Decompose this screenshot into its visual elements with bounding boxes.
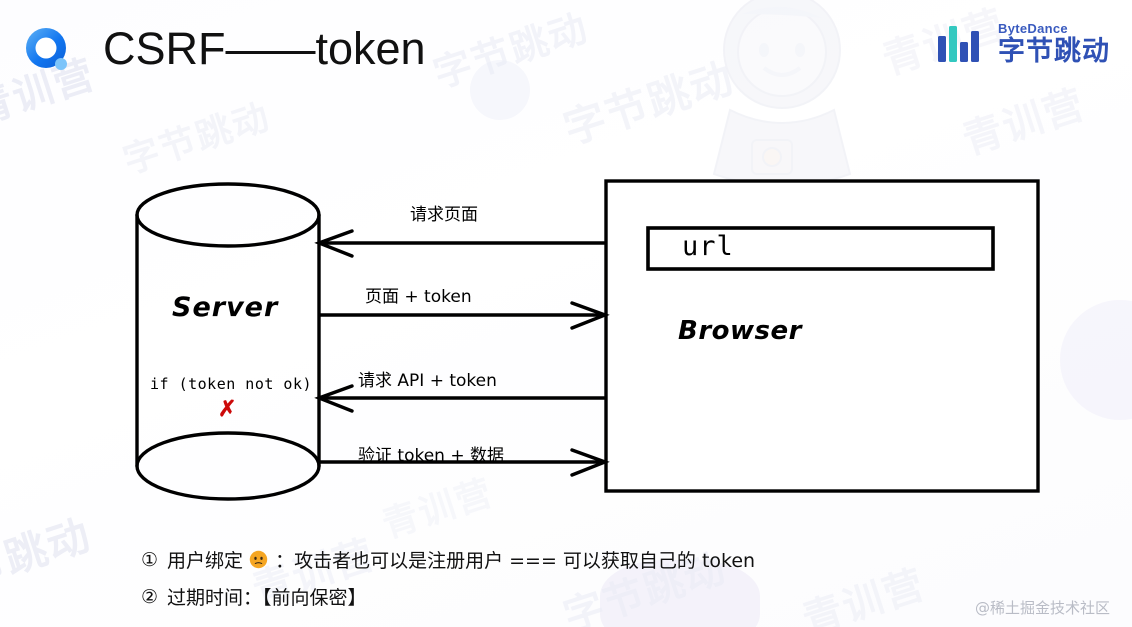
slide-canvas: 青训营 字节跳动 字节跳动 青训营 节跳动 青训营 字节跳动 青训营 青训营 字… (0, 0, 1132, 627)
note-text-after: ：攻击者也可以是注册用户 === 可以获取自己的 token (275, 546, 755, 573)
watermark-credit: @稀土掘金技术社区 (975, 597, 1110, 618)
reject-cross-icon: ✗ (218, 396, 236, 422)
note-number: ① (141, 549, 158, 571)
watermark-text: 字节跳动 (116, 88, 277, 184)
note-item: ① 用户绑定 ：攻击者也可以是注册用户 === 可以获取自己的 token (141, 546, 755, 573)
note-text-before: 过期时间：【前向保密】 (167, 583, 367, 610)
watermark-text: 青训营 (954, 72, 1092, 166)
arrow-label-request-page: 请求页面 (410, 200, 478, 225)
arrow-label-request-api-token: 请求 API + token (358, 366, 497, 391)
note-number: ② (141, 586, 158, 608)
server-cylinder-top (137, 184, 319, 246)
arrow-label-verify-token-data: 验证 token + 数据 (358, 441, 504, 466)
brand-name-en: ByteDance (998, 22, 1110, 35)
server-condition-text: if (token not ok) (150, 375, 312, 393)
watermark-text: 青训营 (794, 552, 932, 627)
arrow-label-page-token: 页面 + token (365, 282, 472, 307)
qiniu-circle-logo-icon (22, 24, 74, 76)
thinking-face-emoji (249, 550, 268, 569)
background-blob (1060, 300, 1132, 420)
server-label: Server (172, 292, 278, 323)
url-bar-value: url (682, 231, 734, 262)
bytedance-logo: ByteDance 字节跳动 (937, 22, 1110, 65)
note-item: ② 过期时间：【前向保密】 (141, 583, 755, 610)
watermark-text: 节跳动 (0, 501, 98, 600)
page-title: CSRF——token (103, 18, 426, 80)
browser-window-frame (606, 181, 1038, 491)
brand-name-cn: 字节跳动 (998, 38, 1110, 65)
arrow-request-page (319, 231, 604, 256)
watermark-text: 青训营 (375, 464, 500, 549)
notes-list: ① 用户绑定 ：攻击者也可以是注册用户 === 可以获取自己的 token ② … (141, 546, 755, 610)
browser-label: Browser (678, 316, 802, 346)
bar-chart-icon (937, 24, 989, 64)
note-text-before: 用户绑定 (167, 546, 243, 573)
server-cylinder-bottom (137, 433, 319, 499)
